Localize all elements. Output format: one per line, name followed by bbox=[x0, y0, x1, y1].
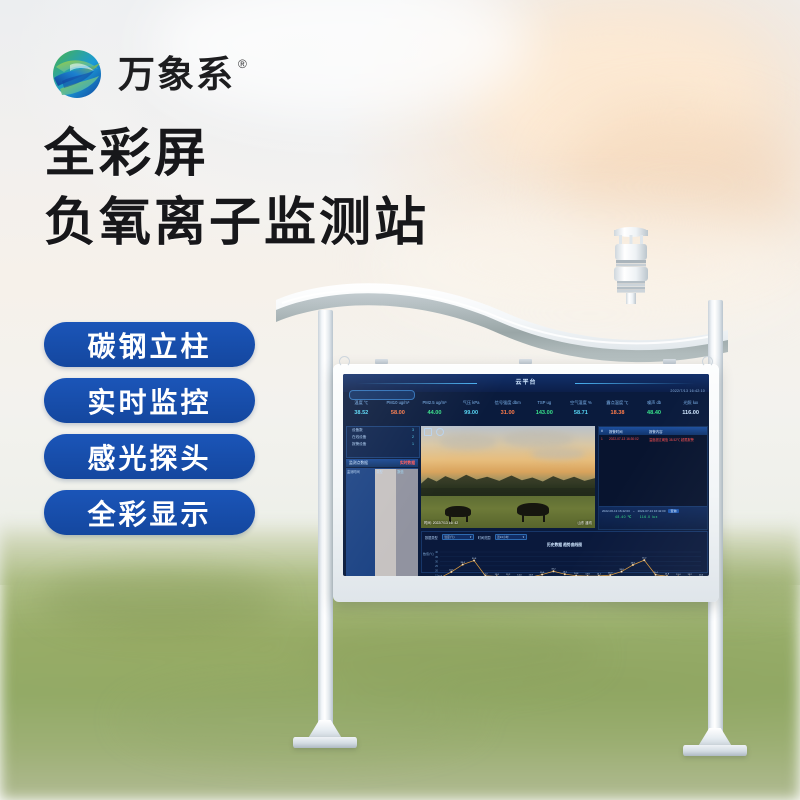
stat-label: 在线设备 bbox=[352, 435, 366, 440]
led-display-monitor: 云平台 2022/7/13 16:42:10 温度 ℃38.52PM10 ug/… bbox=[333, 364, 719, 602]
svg-text:14.4: 14.4 bbox=[574, 573, 579, 575]
alarm-col-time: 报警时间 bbox=[609, 429, 649, 434]
metric-item: 气压 kPa99.00 bbox=[453, 398, 490, 424]
cloud-platform-dashboard: 云平台 2022/7/13 16:42:10 温度 ℃38.52PM10 ug/… bbox=[343, 374, 709, 576]
chart-type-label: 数据类型 bbox=[425, 535, 438, 540]
metric-item: 空气湿度 %58.71 bbox=[563, 398, 600, 424]
device-stats-box: 设备数3在线设备2报警设备1 bbox=[346, 426, 420, 458]
dashboard-title: 云平台 bbox=[343, 377, 709, 386]
metric-label: 噪声 db bbox=[636, 398, 673, 408]
metric-value: 58.71 bbox=[563, 408, 600, 419]
metric-label: 气压 kPa bbox=[453, 398, 490, 408]
svg-text:16.0: 16.0 bbox=[563, 572, 568, 574]
data-table-header: 监测点数据 实时数据 bbox=[346, 459, 418, 467]
alarm-range-from[interactable]: 2022-06-13 16:42:00 bbox=[602, 509, 630, 513]
svg-text:25: 25 bbox=[435, 564, 438, 568]
mount-ring-left-icon bbox=[339, 356, 350, 367]
svg-text:13.6: 13.6 bbox=[495, 574, 500, 576]
alarm-table-header: # 报警时间 报警内容 bbox=[599, 427, 707, 435]
flange-base-right bbox=[683, 730, 747, 756]
metric-item: 露点温度 ℃18.38 bbox=[599, 398, 636, 424]
alarm-cell: 1 bbox=[601, 437, 609, 442]
alarm-rows: 12022-07-13 16:30:02温度超过阈值 38.52℃ 超限报警 bbox=[599, 435, 707, 443]
carbon-steel-post-left bbox=[318, 310, 333, 728]
dashboard-clock: 2022/7/13 16:42:10 bbox=[670, 389, 705, 393]
metric-value: 143.00 bbox=[526, 408, 563, 419]
history-trend-chart-panel: 数据类型 温度(℃) ▾ 时间范围 近24小时 ▾ 历史数据 趋势曲线图 bbox=[421, 531, 708, 573]
left-column: 设备数3在线设备2报警设备1 监测点数据 实时数据 监测时间类型数值2022-0… bbox=[346, 426, 418, 573]
svg-text:31.2: 31.2 bbox=[642, 558, 647, 560]
metric-item: TSP ug143.00 bbox=[526, 398, 563, 424]
monitoring-station-product: 云平台 2022/7/13 16:42:10 温度 ℃38.52PM10 ug/… bbox=[0, 0, 800, 800]
metric-label: 光照 lux bbox=[672, 398, 709, 408]
data-table[interactable]: 监测时间类型数值2022-07-13 16:42:10温度38.52 ℃2022… bbox=[346, 468, 418, 576]
alarm-col-index: # bbox=[601, 429, 609, 434]
svg-text:15.4: 15.4 bbox=[653, 572, 658, 574]
stat-label: 报警设备 bbox=[352, 442, 366, 447]
video-watermark: 山东 潍坊 bbox=[577, 520, 592, 525]
metric-label: 信号强度 dbm bbox=[489, 398, 526, 408]
camera-video-feed[interactable]: 时间: 2022/7/13 16: 42 山东 潍坊 bbox=[421, 426, 595, 528]
table-column-label: 数值 bbox=[396, 469, 418, 576]
metric-label: 空气湿度 % bbox=[563, 398, 600, 408]
alarm-range-to[interactable]: 2022-07-13 16:42:00 bbox=[638, 509, 666, 513]
alarm-cell: 2022-07-13 16:30:02 bbox=[609, 437, 649, 442]
svg-text:20: 20 bbox=[435, 569, 438, 573]
metric-item: 信号强度 dbm31.00 bbox=[489, 398, 526, 424]
chart-type-select[interactable]: 温度(℃) ▾ bbox=[442, 534, 474, 540]
chart-type-value: 温度(℃) bbox=[444, 535, 454, 539]
metric-label: PM2.5 ug/m³ bbox=[416, 398, 453, 408]
alarm-footer-value-1: 48.40 ℃ bbox=[615, 515, 632, 519]
stat-value: 1 bbox=[412, 442, 414, 447]
metric-value: 18.38 bbox=[599, 408, 636, 419]
metric-value: 38.52 bbox=[343, 408, 380, 419]
metric-item: PM2.5 ug/m³44.00 bbox=[416, 398, 453, 424]
device-stat-row: 设备数3 bbox=[347, 427, 419, 434]
mount-tab bbox=[663, 359, 676, 364]
svg-text:40: 40 bbox=[435, 550, 438, 554]
chart-range-label: 时间范围 bbox=[478, 535, 491, 540]
alarm-footer-value-2: 116.0 lux bbox=[640, 515, 658, 519]
stat-value: 2 bbox=[412, 435, 414, 440]
svg-text:12.0: 12.0 bbox=[438, 575, 443, 576]
svg-text:数值(℃): 数值(℃) bbox=[423, 551, 434, 556]
metric-value: 99.00 bbox=[453, 408, 490, 419]
alarm-cell: 温度超过阈值 38.52℃ 超限报警 bbox=[649, 437, 705, 442]
metric-value: 116.00 bbox=[672, 408, 709, 419]
chart-range-value: 近24小时 bbox=[497, 535, 509, 539]
stat-label: 设备数 bbox=[352, 428, 363, 433]
ultrasonic-weather-sensor-icon bbox=[600, 222, 662, 304]
alarm-footer-values: 48.40 ℃ 116.0 lux bbox=[599, 515, 707, 519]
video-timestamp: 时间: 2022/7/13 16: 42 bbox=[424, 520, 458, 525]
svg-text:30: 30 bbox=[435, 559, 438, 563]
trend-line-chart: 数值(℃)051015202530354012.018.526.430.814.… bbox=[422, 548, 705, 576]
metric-label: TSP ug bbox=[526, 398, 563, 408]
video-tools[interactable] bbox=[424, 428, 444, 436]
display-screen: 云平台 2022/7/13 16:42:10 温度 ℃38.52PM10 ug/… bbox=[343, 374, 709, 576]
svg-text:13.0: 13.0 bbox=[699, 574, 704, 576]
flange-base-left bbox=[293, 722, 357, 748]
chart-range-select[interactable]: 近24小时 ▾ bbox=[495, 534, 527, 540]
metric-label: PM10 ug/m³ bbox=[380, 398, 417, 408]
alarm-col-content: 报警内容 bbox=[649, 429, 705, 434]
chevron-down-icon: ▾ bbox=[470, 535, 471, 539]
alarm-row[interactable]: 12022-07-13 16:30:02温度超过阈值 38.52℃ 超限报警 bbox=[599, 435, 707, 443]
stat-value: 3 bbox=[412, 428, 414, 433]
svg-text:35: 35 bbox=[435, 555, 438, 559]
table-column-label: 监测时间 bbox=[346, 469, 375, 576]
alarm-footer: 2022-06-13 16:42:00 ~ 2022-07-13 16:42:0… bbox=[599, 506, 707, 529]
table-column-label: 类型 bbox=[375, 469, 396, 576]
alarm-range-sep: ~ bbox=[633, 509, 635, 513]
chart-toolbar: 数据类型 温度(℃) ▾ 时间范围 近24小时 ▾ bbox=[422, 532, 707, 542]
metric-value: 48.40 bbox=[636, 408, 673, 419]
metrics-row: 温度 ℃38.52PM10 ug/m³58.00PM2.5 ug/m³44.00… bbox=[343, 398, 709, 424]
chevron-down-icon: ▾ bbox=[523, 535, 524, 539]
mount-tab bbox=[375, 359, 388, 364]
svg-text:30.8: 30.8 bbox=[472, 558, 477, 560]
device-stat-row: 在线设备2 bbox=[347, 434, 419, 441]
table-column-header: 监测时间类型数值 bbox=[346, 468, 418, 576]
mount-ring-right-icon bbox=[702, 356, 713, 367]
realtime-badge: 实时数据 bbox=[400, 461, 415, 466]
alarm-log-panel: # 报警时间 报警内容 12022-07-13 16:30:02温度超过阈值 3… bbox=[598, 426, 708, 530]
metric-value: 31.00 bbox=[489, 408, 526, 419]
mount-tab bbox=[519, 359, 532, 364]
metric-value: 58.00 bbox=[380, 408, 417, 419]
fullscreen-icon[interactable] bbox=[424, 428, 432, 436]
data-table-title: 监测点数据 bbox=[349, 461, 368, 466]
metric-item: 温度 ℃38.52 bbox=[343, 398, 380, 424]
metric-item: 噪声 db48.40 bbox=[636, 398, 673, 424]
metric-label: 温度 ℃ bbox=[343, 398, 380, 408]
alarm-query-button[interactable]: 查询 bbox=[668, 509, 678, 513]
product-marketing-image: 万象系 ® 全彩屏 负氧离子监测站 碳钢立柱 实时监控 感光探头 全彩显示 bbox=[0, 0, 800, 800]
metric-item: PM10 ug/m³58.00 bbox=[380, 398, 417, 424]
svg-text:13.8: 13.8 bbox=[665, 574, 670, 576]
device-stat-row: 报警设备1 bbox=[347, 441, 419, 448]
snapshot-icon[interactable] bbox=[436, 428, 444, 436]
metric-item: 光照 lux116.00 bbox=[672, 398, 709, 424]
metric-label: 露点温度 ℃ bbox=[599, 398, 636, 408]
metric-value: 44.00 bbox=[416, 408, 453, 419]
